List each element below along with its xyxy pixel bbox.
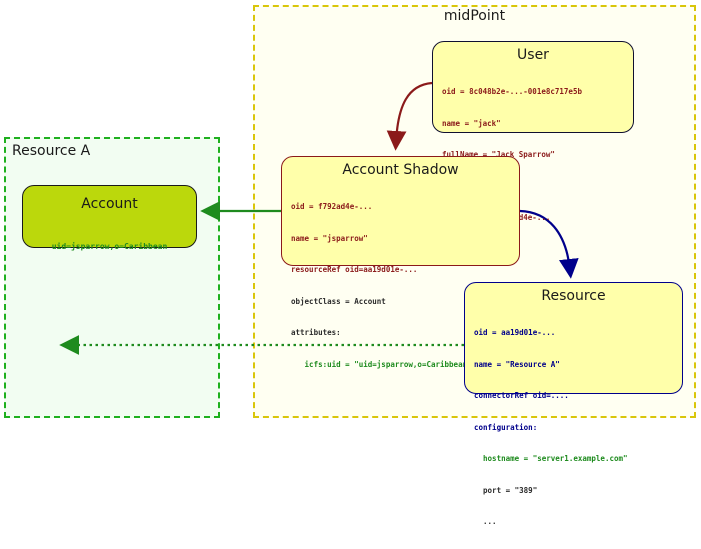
diagram-canvas: midPoint Resource A User oid = 8c048b2e xyxy=(0,0,701,422)
resource-a-container xyxy=(4,137,220,418)
entity-line: oid = aa19d01e-... xyxy=(474,328,678,339)
entity-line: oid = 8c048b2e-...-001e8c717e5b xyxy=(442,87,629,98)
entity-line: oid = f792ad4e-... xyxy=(291,202,515,213)
entity-title-account: Account xyxy=(23,186,196,215)
resource-a-container-label: Resource A xyxy=(12,143,90,159)
entity-line: port = "389" xyxy=(474,486,678,497)
entity-line: connectorRef oid=.... xyxy=(474,391,678,402)
entity-line: ... xyxy=(474,517,678,528)
entity-title-user: User xyxy=(433,42,633,66)
entity-title-account-shadow: Account Shadow xyxy=(282,157,519,181)
entity-line: name = "jack" xyxy=(442,119,629,130)
entity-box-account-shadow[interactable]: Account Shadow oid = f792ad4e-... name =… xyxy=(281,156,520,266)
entity-line: name = "jsparrow" xyxy=(291,234,515,245)
entity-body-account: uid=jsparrow,o=Caribbean xyxy=(23,215,196,274)
entity-box-user[interactable]: User oid = 8c048b2e-...-001e8c717e5b nam… xyxy=(432,41,634,133)
entity-line: configuration: xyxy=(474,423,678,434)
entity-title-resource: Resource xyxy=(465,283,682,307)
entity-line: uid=jsparrow,o=Caribbean xyxy=(23,242,196,253)
entity-box-resource[interactable]: Resource oid = aa19d01e-... name = "Reso… xyxy=(464,282,683,394)
entity-body-resource: oid = aa19d01e-... name = "Resource A" c… xyxy=(465,307,682,549)
entity-box-account[interactable]: Account uid=jsparrow,o=Caribbean xyxy=(22,185,197,248)
entity-line: name = "Resource A" xyxy=(474,360,678,371)
midpoint-container-label: midPoint xyxy=(253,8,696,24)
entity-line: hostname = "server1.example.com" xyxy=(474,454,678,465)
entity-line: resourceRef oid=aa19d01e-... xyxy=(291,265,515,276)
